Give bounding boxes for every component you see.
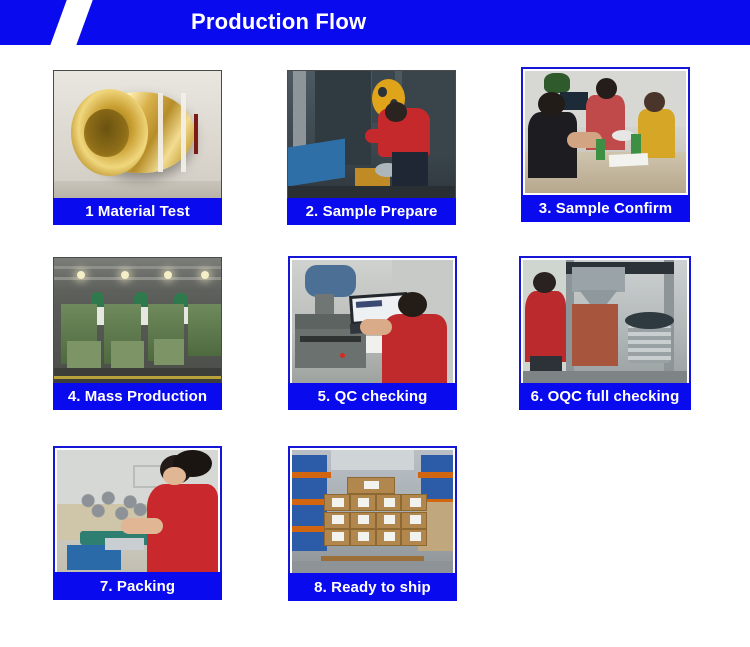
step-image-7 [57,450,218,572]
step-card-6[interactable] [519,256,691,387]
step-image-1 [54,71,221,202]
step-card-4[interactable] [53,257,222,388]
production-flow-grid: 1 Material Test 2. Sample Pre [0,45,750,647]
step-caption-8: 8. Ready to ship [288,573,457,601]
step-card-8[interactable] [288,446,457,577]
step-image-2 [288,71,455,202]
step-image-5 [292,260,453,383]
step-card-5[interactable] [288,256,457,387]
step-card-7[interactable] [53,446,222,576]
step-caption-7: 7. Packing [53,572,222,600]
step-image-3 [525,71,686,193]
step-caption-3: 3. Sample Confirm [521,195,690,222]
step-caption-6: 6. OQC full checking [519,383,691,410]
diagonal-slash-icon [48,0,94,45]
step-caption-5: 5. QC checking [288,383,457,410]
step-caption-2: 2. Sample Prepare [287,198,456,225]
step-card-3[interactable] [521,67,690,197]
step-image-8 [292,450,453,573]
step-caption-4: 4. Mass Production [53,383,222,410]
page-title: Production Flow [191,8,366,36]
step-card-2[interactable] [287,70,456,203]
step-image-4 [54,258,221,387]
step-card-1[interactable] [53,70,222,203]
page-header-banner: Production Flow [0,0,750,45]
step-caption-1: 1 Material Test [53,198,222,225]
step-image-6 [523,260,687,383]
